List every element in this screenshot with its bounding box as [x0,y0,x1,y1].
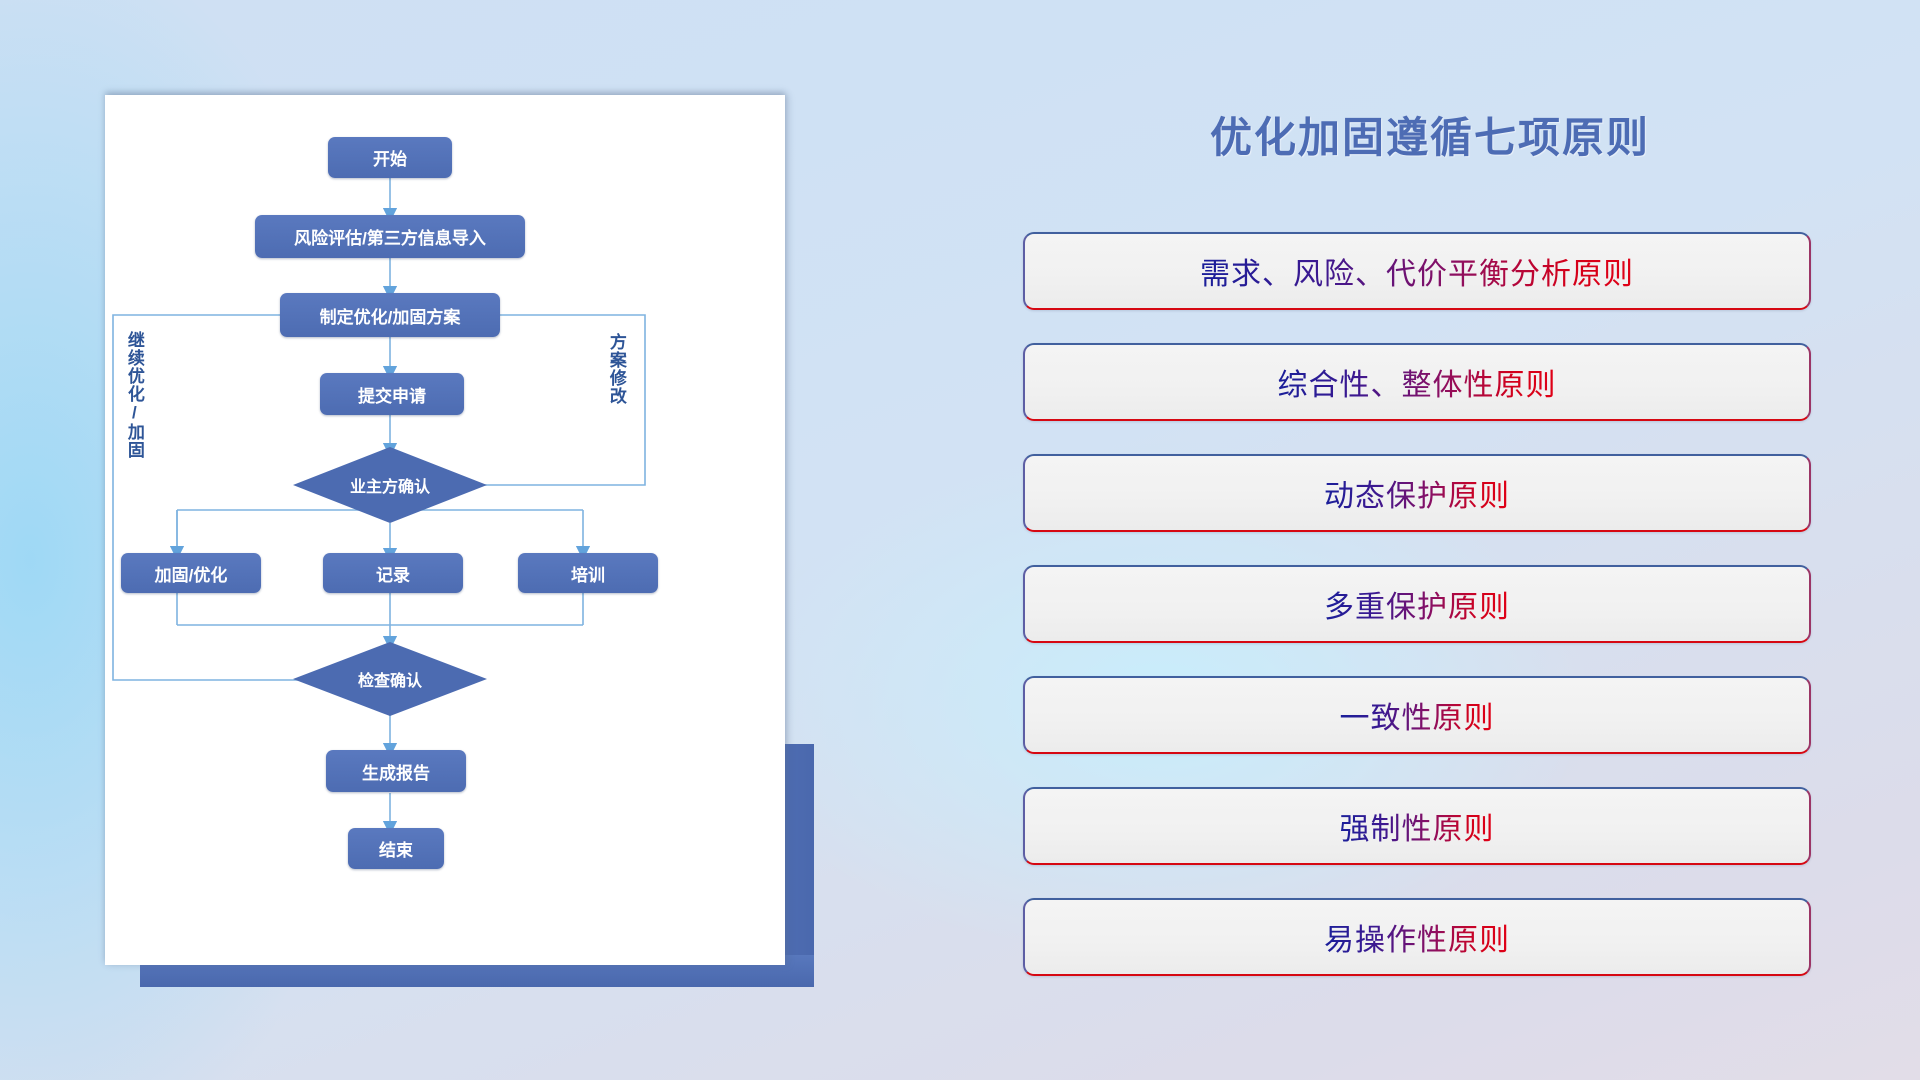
principle-label: 强制性原则 [1340,804,1495,848]
principle-label: 需求、风险、代价平衡分析原则 [1200,249,1634,293]
principle-label: 综合性、整体性原则 [1278,360,1557,404]
flow-node-training[interactable]: 培训 [518,553,658,593]
principle-label: 易操作性原则 [1324,915,1510,959]
principle-item-6[interactable]: 强制性原则 [1023,787,1811,865]
flow-node-make-plan[interactable]: 制定优化/加固方案 [280,293,500,337]
flow-node-submit-application[interactable]: 提交申请 [320,373,464,415]
flow-edge-label-plan-revision: 方案修改 [607,333,625,453]
flow-node-start[interactable]: 开始 [328,137,452,178]
principle-item-2[interactable]: 综合性、整体性原则 [1023,343,1811,421]
page-title: 优化加固遵循七项原则 [1150,104,1710,165]
flow-edge-label-continue-optimize: 继续优化/加固 [125,331,143,481]
principle-label: 多重保护原则 [1324,582,1510,626]
principles-list: 需求、风险、代价平衡分析原则 综合性、整体性原则 动态保护原则 多重保护原则 一… [1023,232,1811,1009]
principle-item-5[interactable]: 一致性原则 [1023,676,1811,754]
flowchart-card: 开始 风险评估/第三方信息导入 制定优化/加固方案 提交申请 业主方确认 加固/… [105,95,785,965]
principle-item-3[interactable]: 动态保护原则 [1023,454,1811,532]
flow-node-end[interactable]: 结束 [348,828,444,869]
flow-node-reinforce[interactable]: 加固/优化 [121,553,261,593]
principle-item-1[interactable]: 需求、风险、代价平衡分析原则 [1023,232,1811,310]
flow-node-risk-assessment[interactable]: 风险评估/第三方信息导入 [255,215,525,258]
principle-label: 一致性原则 [1340,693,1495,737]
flow-node-generate-report[interactable]: 生成报告 [326,750,466,792]
principle-item-7[interactable]: 易操作性原则 [1023,898,1811,976]
principle-label: 动态保护原则 [1324,471,1510,515]
principle-item-4[interactable]: 多重保护原则 [1023,565,1811,643]
flow-node-record[interactable]: 记录 [323,553,463,593]
